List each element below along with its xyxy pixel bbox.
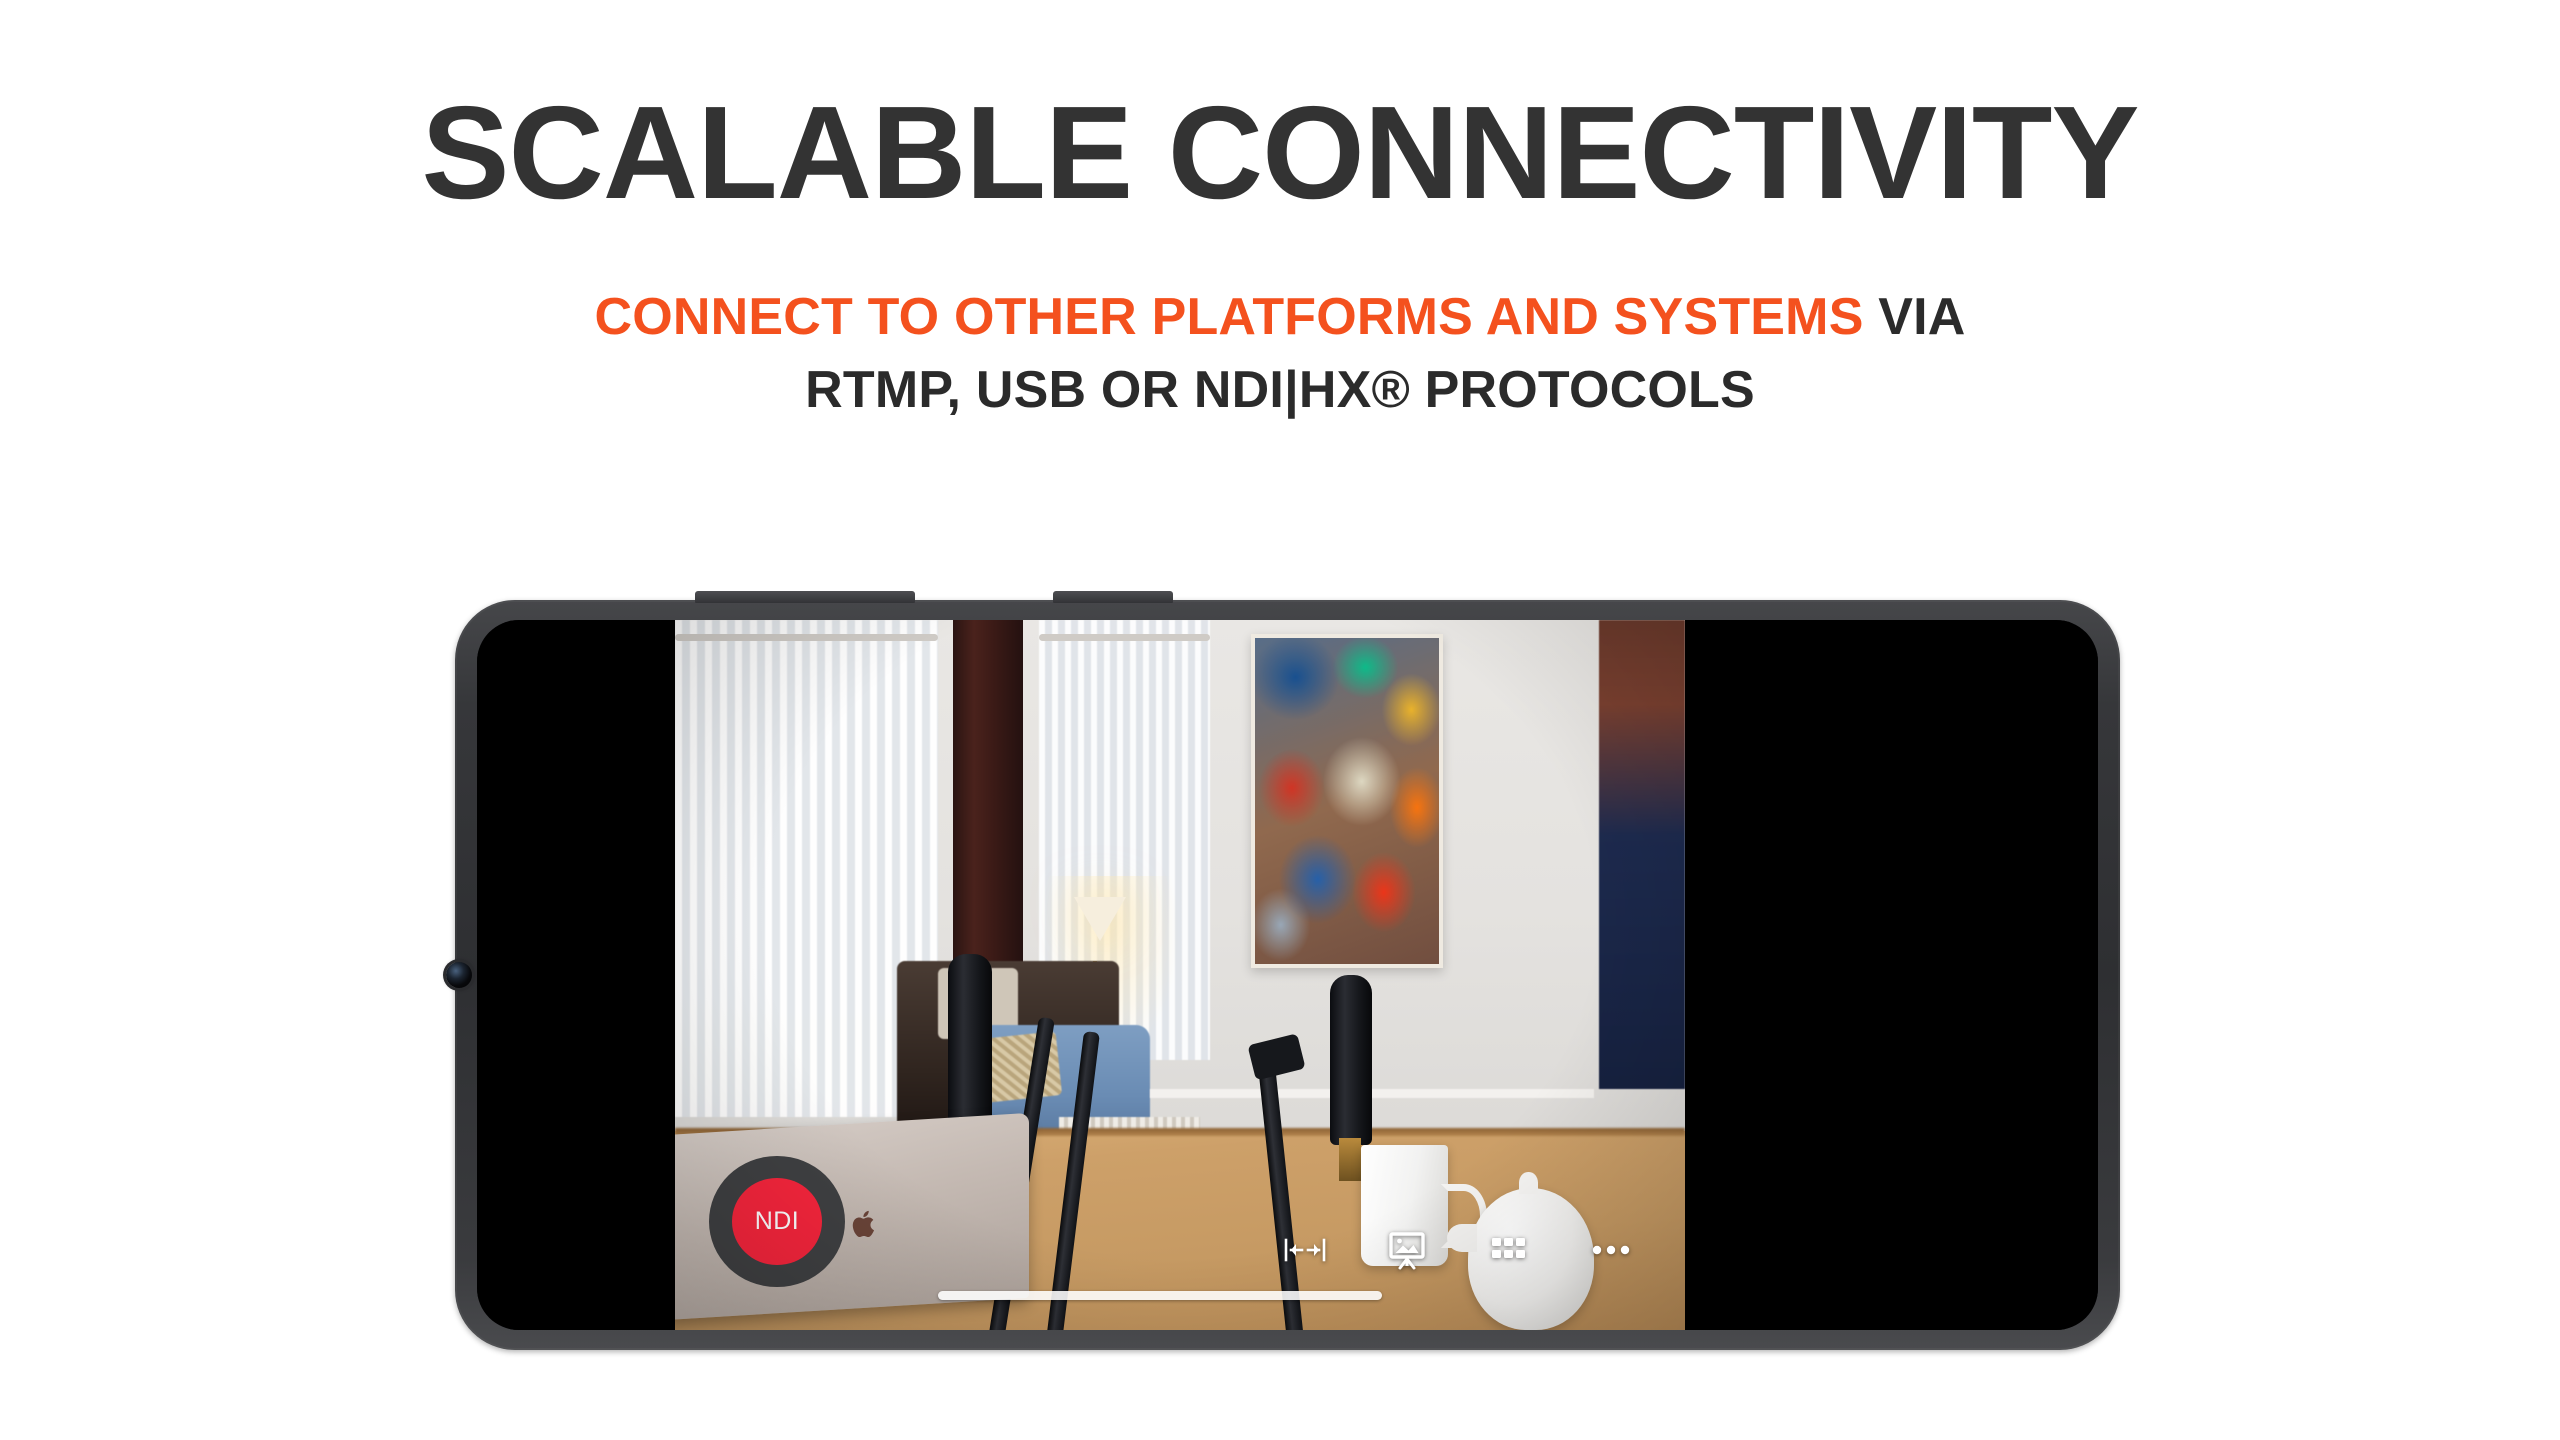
- phone-screen: NDI: [477, 620, 2098, 1330]
- headline-block: SCALABLE CONNECTIVITY: [0, 0, 2560, 223]
- page-title: SCALABLE CONNECTIVITY: [0, 84, 2560, 223]
- scene-microphone-right-mount: [1339, 1138, 1361, 1181]
- scene-teapot-knob: [1519, 1172, 1537, 1193]
- subheadline-line-1-suffix: VIA: [1864, 288, 1966, 346]
- volume-rocker-button[interactable]: [695, 591, 915, 603]
- slide-root: SCALABLE CONNECTIVITY CONNECT TO OTHER P…: [0, 0, 2560, 1440]
- power-button[interactable]: [1053, 591, 1173, 603]
- scene-painting-canvas: [1255, 638, 1439, 964]
- grid-layout-icon[interactable]: [1487, 1228, 1531, 1272]
- image-preview-icon[interactable]: [1385, 1228, 1429, 1272]
- scene-microphone-right: [1330, 975, 1372, 1145]
- front-camera-lens-icon: [446, 962, 472, 988]
- video-player[interactable]: NDI: [675, 620, 1685, 1330]
- subheadline-line-2: RTMP, USB OR NDI|HX® PROTOCOLS: [0, 354, 2560, 428]
- subheadline-line-1: CONNECT TO OTHER PLATFORMS AND SYSTEMS V…: [0, 281, 2560, 355]
- more-options-icon[interactable]: [1589, 1228, 1633, 1272]
- scene-lampshade: [1074, 897, 1126, 941]
- video-progress-bar[interactable]: [938, 1291, 1382, 1300]
- scene-microphone-left: [948, 954, 992, 1124]
- scene-painting: [1251, 634, 1443, 968]
- fit-to-width-icon[interactable]: [1283, 1228, 1327, 1272]
- scene-curtain-rod-right: [1039, 634, 1211, 641]
- scene-tapestry: [1599, 620, 1685, 1089]
- video-scene: NDI: [675, 620, 1685, 1330]
- video-overlay-controls: [675, 1228, 1685, 1272]
- scene-curtain-rod-left: [675, 634, 938, 641]
- phone-device: NDI: [455, 600, 2120, 1350]
- subheadline-accent-text: CONNECT TO OTHER PLATFORMS AND SYSTEMS: [594, 288, 1863, 346]
- subheadline-block: CONNECT TO OTHER PLATFORMS AND SYSTEMS V…: [0, 281, 2560, 429]
